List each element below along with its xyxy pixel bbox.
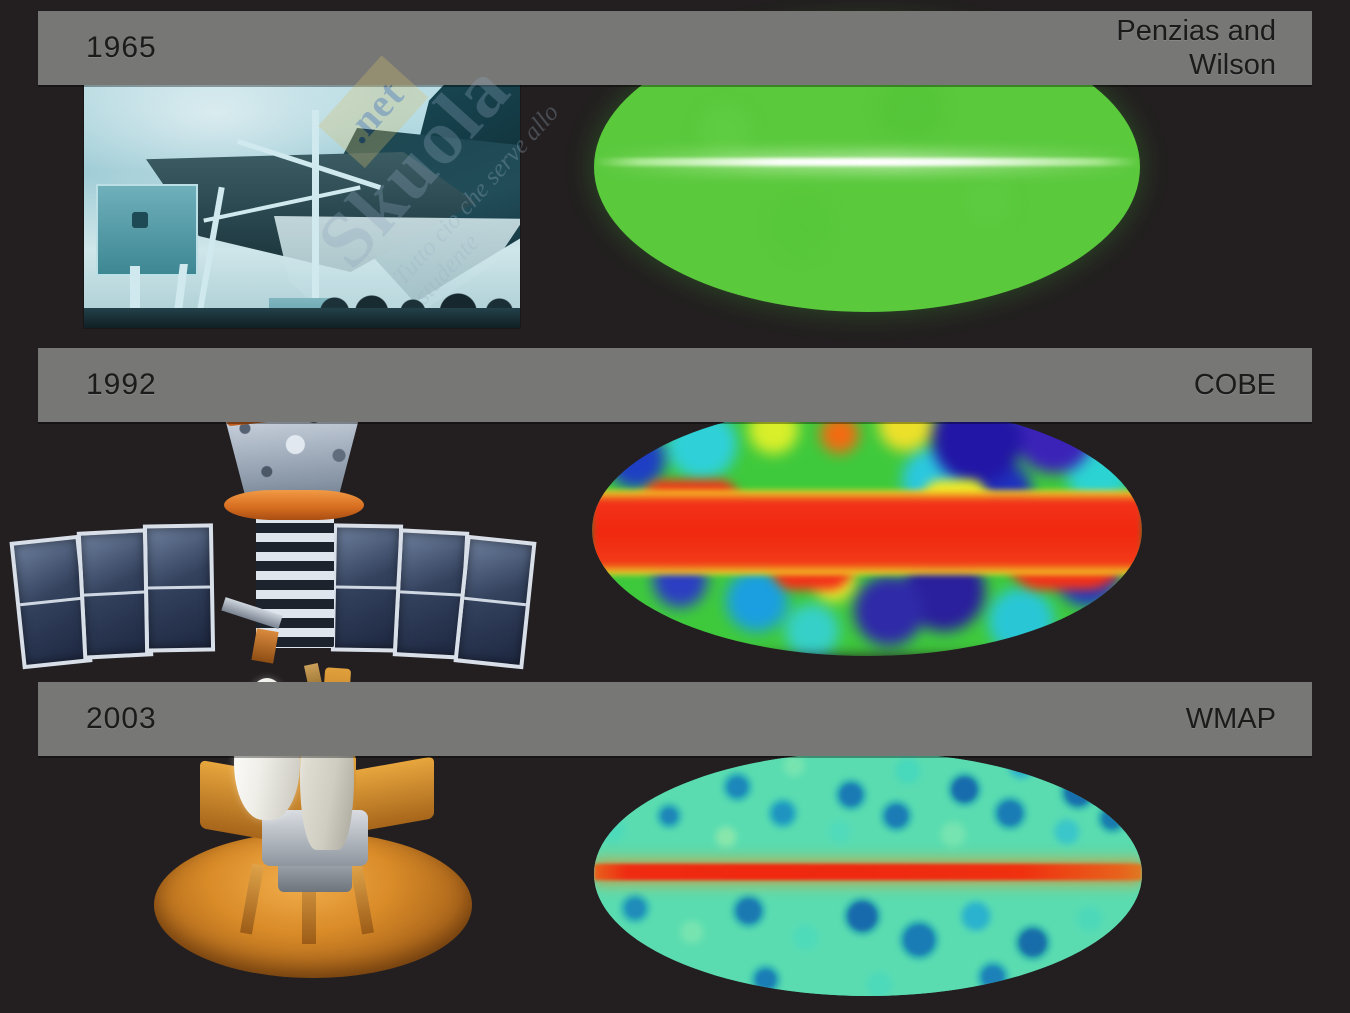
mission-label-wmap: WMAP <box>1186 702 1276 736</box>
instrument-stack <box>256 514 334 648</box>
cmb-map-1992-cobe <box>592 404 1142 656</box>
receiver-cabin <box>96 184 198 276</box>
lower-thermal-blanket <box>251 628 278 663</box>
thermal-blanket-band <box>224 490 364 520</box>
row-banner-1992: 1992 COBE <box>38 348 1312 422</box>
year-label-1992: 1992 <box>86 368 157 402</box>
solar-panel <box>77 528 154 659</box>
galactic-band <box>594 864 1142 880</box>
cmb-map-2003-wmap <box>594 752 1142 996</box>
mission-label-penzias-wilson: Penzias and Wilson <box>1116 14 1276 82</box>
solar-panel <box>454 535 537 670</box>
solar-panel <box>143 523 215 652</box>
cobe-satellite-photo <box>104 392 516 660</box>
cmb-timeline-figure: 1965 Penzias and Wilson 1992 COBE <box>0 0 1350 1013</box>
galactic-band <box>594 158 1140 166</box>
holmdel-horn-antenna-photo <box>84 66 520 328</box>
year-label-2003: 2003 <box>86 702 157 736</box>
galactic-band <box>592 490 1142 576</box>
solar-panel <box>331 523 403 652</box>
ground <box>84 308 520 328</box>
row-banner-2003: 2003 WMAP <box>38 682 1312 756</box>
mission-label-cobe: COBE <box>1194 368 1276 402</box>
row-banner-1965: 1965 Penzias and Wilson <box>38 11 1312 85</box>
year-label-1965: 1965 <box>86 31 157 65</box>
